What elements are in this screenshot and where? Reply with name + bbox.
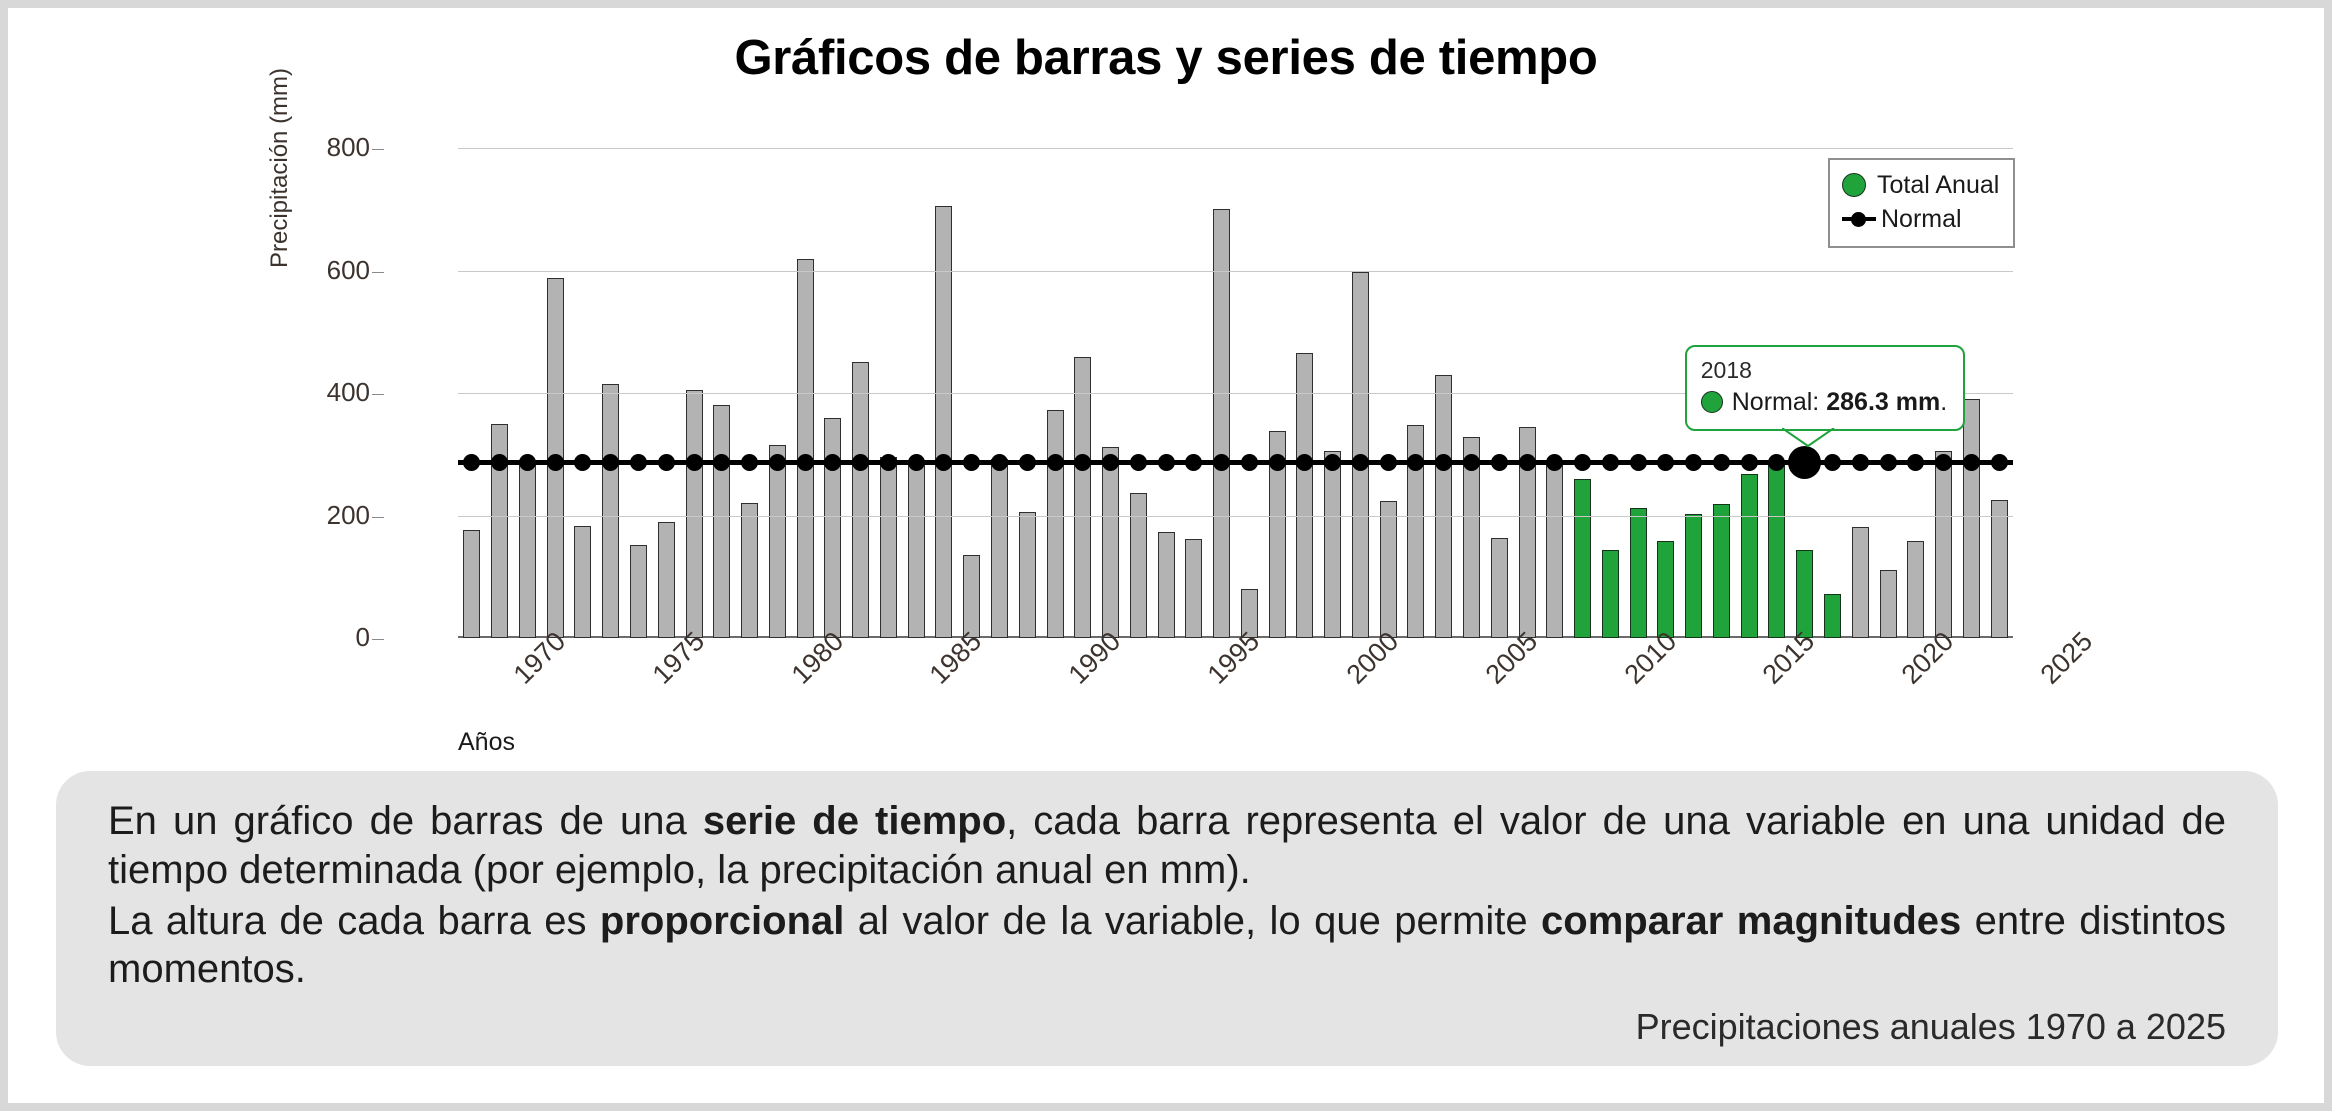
panel-text-1a: En un gráfico de barras de una	[108, 799, 703, 843]
normal-point[interactable]	[797, 454, 814, 471]
legend-item-normal: Normal	[1842, 202, 1999, 236]
bar[interactable]	[1047, 410, 1064, 638]
normal-point[interactable]	[1602, 454, 1619, 471]
bar[interactable]	[852, 362, 869, 638]
green-circle-icon	[1842, 173, 1866, 197]
bar[interactable]	[1602, 550, 1619, 638]
bar[interactable]	[713, 405, 730, 638]
bar[interactable]	[1158, 532, 1175, 638]
normal-point[interactable]	[1352, 454, 1369, 471]
tooltip-series-label: Normal:	[1732, 388, 1820, 417]
explanation-panel: En un gráfico de barras de una serie de …	[56, 771, 2278, 1066]
bar[interactable]	[1657, 541, 1674, 638]
tooltip-year: 2018	[1701, 357, 1947, 384]
bar[interactable]	[1741, 474, 1758, 638]
normal-point[interactable]	[1824, 454, 1841, 471]
x-tick-label: 2025	[2035, 626, 2099, 690]
bar[interactable]	[824, 418, 841, 638]
normal-point[interactable]	[658, 454, 675, 471]
bar[interactable]	[1713, 504, 1730, 638]
bar[interactable]	[1630, 508, 1647, 638]
normal-point[interactable]	[519, 454, 536, 471]
legend-item-total-anual: Total Anual	[1842, 168, 1999, 202]
y-tick-label: 800	[250, 132, 370, 163]
normal-point[interactable]	[1630, 454, 1647, 471]
bar[interactable]	[630, 545, 647, 638]
normal-point[interactable]	[547, 454, 564, 471]
y-tick-mark	[372, 517, 384, 518]
bar[interactable]	[1907, 541, 1924, 638]
slide-page: Gráficos de barras y series de tiempo Pr…	[8, 8, 2324, 1103]
x-axis-label: Años	[458, 728, 515, 757]
bar[interactable]	[1546, 462, 1563, 638]
normal-point[interactable]	[1269, 454, 1286, 471]
bar[interactable]	[1768, 463, 1785, 638]
tooltip-suffix: .	[1940, 388, 1947, 417]
y-tick-label: 400	[250, 377, 370, 408]
chart-container: Precipitación (mm) 0200400600800 1970197…	[338, 128, 2038, 748]
gridline	[458, 516, 2013, 517]
tooltip-tail	[1782, 428, 1838, 448]
bar[interactable]	[880, 457, 897, 638]
line-dot-icon	[1842, 208, 1876, 230]
bar[interactable]	[1019, 512, 1036, 638]
normal-point[interactable]	[1963, 454, 1980, 471]
bar[interactable]	[1102, 447, 1119, 638]
normal-point[interactable]	[991, 454, 1008, 471]
y-tick-mark	[372, 639, 384, 640]
normal-point[interactable]	[769, 454, 786, 471]
normal-point[interactable]	[1713, 454, 1730, 471]
chart-tooltip: 2018 Normal: 286.3 mm .	[1685, 345, 1965, 431]
bar[interactable]	[1491, 538, 1508, 638]
y-tick-mark	[372, 394, 384, 395]
page-title: Gráficos de barras y series de tiempo	[8, 30, 2324, 86]
green-dot-icon	[1701, 391, 1723, 413]
bar[interactable]	[1824, 594, 1841, 638]
normal-point[interactable]	[1019, 454, 1036, 471]
bar[interactable]	[991, 459, 1008, 638]
bar[interactable]	[1074, 357, 1091, 638]
bar[interactable]	[1296, 353, 1313, 638]
y-tick-mark	[372, 149, 384, 150]
bar[interactable]	[574, 526, 591, 638]
normal-point[interactable]	[630, 454, 647, 471]
normal-point[interactable]	[880, 454, 897, 471]
gridline	[458, 148, 2013, 149]
chart-legend: Total Anual Normal	[1828, 158, 2015, 248]
normal-point[interactable]	[1852, 454, 1869, 471]
bar[interactable]	[1185, 539, 1202, 638]
bar[interactable]	[1324, 451, 1341, 638]
gridline	[458, 271, 2013, 272]
bar[interactable]	[741, 503, 758, 638]
panel-paragraph-1: En un gráfico de barras de una serie de …	[108, 797, 2226, 895]
panel-text-2c: al valor de la variable, lo que permite	[844, 899, 1541, 943]
bar[interactable]	[686, 390, 703, 638]
normal-point[interactable]	[908, 454, 925, 471]
legend-label-normal: Normal	[1881, 205, 1962, 234]
y-tick-label: 0	[250, 622, 370, 653]
normal-point[interactable]	[1130, 454, 1147, 471]
normal-point[interactable]	[1380, 454, 1397, 471]
y-tick-label: 200	[250, 500, 370, 531]
bar[interactable]	[1435, 375, 1452, 638]
panel-text-2d: comparar magnitudes	[1541, 899, 1961, 943]
bar[interactable]	[1574, 479, 1591, 638]
normal-point[interactable]	[1241, 454, 1258, 471]
normal-point[interactable]	[1047, 454, 1064, 471]
panel-text-1b: serie de tiempo	[703, 799, 1006, 843]
panel-text-2a: La altura de cada barra es	[108, 899, 600, 943]
bar[interactable]	[1935, 451, 1952, 638]
bar[interactable]	[1380, 501, 1397, 638]
panel-paragraph-2: La altura de cada barra es proporcional …	[108, 897, 2226, 995]
tooltip-row: Normal: 286.3 mm .	[1701, 388, 1947, 417]
bar[interactable]	[1991, 500, 2008, 638]
normal-point[interactable]	[1158, 454, 1175, 471]
bar[interactable]	[1852, 527, 1869, 638]
bar[interactable]	[658, 522, 675, 638]
y-axis-label: Precipitación (mm)	[266, 68, 294, 268]
bar[interactable]	[463, 530, 480, 638]
bar[interactable]	[1685, 514, 1702, 638]
bar[interactable]	[769, 445, 786, 638]
normal-point[interactable]	[1991, 454, 2008, 471]
normal-point[interactable]	[1491, 454, 1508, 471]
panel-caption: Precipitaciones anuales 1970 a 2025	[1636, 1006, 2226, 1048]
bar[interactable]	[908, 462, 925, 638]
legend-label-total-anual: Total Anual	[1877, 171, 1999, 200]
y-tick-mark	[372, 272, 384, 273]
panel-text-2b: proporcional	[600, 899, 844, 943]
normal-point[interactable]	[1880, 454, 1897, 471]
bar[interactable]	[602, 384, 619, 638]
bar[interactable]	[797, 259, 814, 638]
bar[interactable]	[1963, 399, 1980, 638]
normal-point[interactable]	[1741, 454, 1758, 471]
normal-point[interactable]	[686, 454, 703, 471]
y-tick-label: 600	[250, 255, 370, 286]
normal-point[interactable]	[1519, 454, 1536, 471]
bar[interactable]	[1213, 209, 1230, 638]
bar[interactable]	[1880, 570, 1897, 638]
bar[interactable]	[519, 462, 536, 638]
tooltip-value: 286.3 mm	[1826, 388, 1940, 417]
